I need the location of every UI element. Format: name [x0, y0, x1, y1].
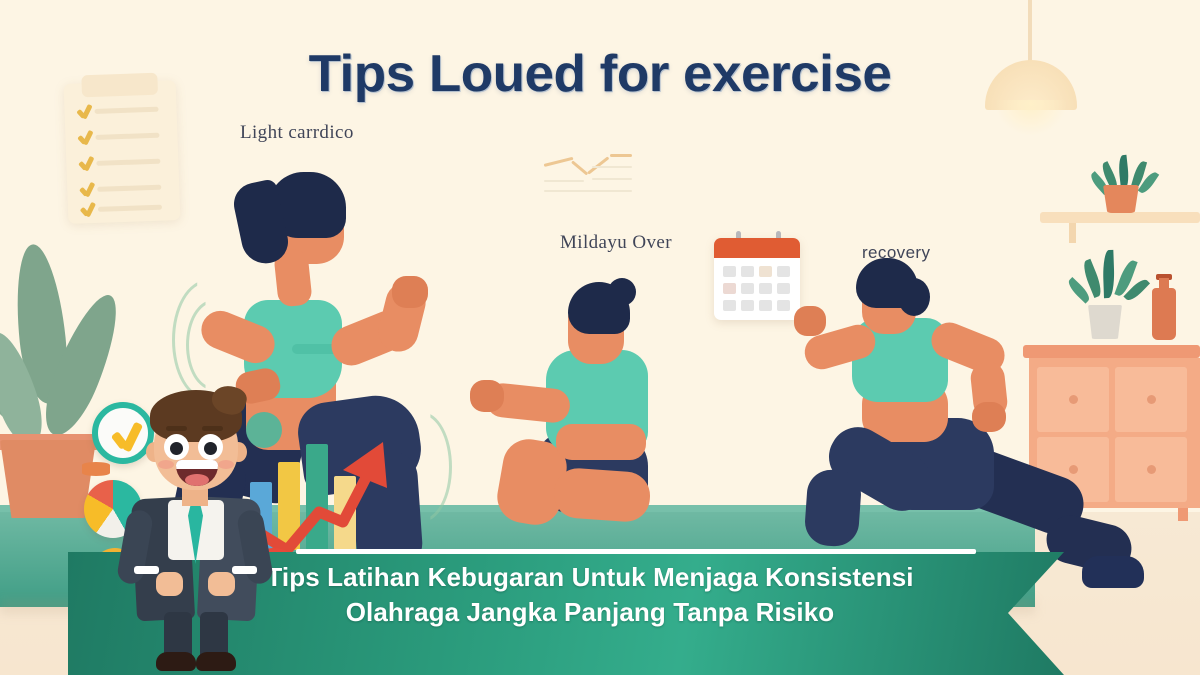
businessman-mascot [120, 390, 270, 675]
banner-line-2: Olahraga Jangka Panjang Tanpa Risiko [240, 595, 940, 630]
shelf-board [1040, 212, 1200, 223]
label-recovery: recovery [862, 243, 930, 263]
line-chart-icon [540, 138, 632, 196]
label-middle: Mildayu Over [560, 232, 672, 254]
lamp-glow [995, 100, 1067, 136]
banner-caption: Tips Latihan Kebugaran Untuk Menjaga Kon… [240, 560, 940, 630]
bottle-icon [1152, 288, 1176, 340]
shelf-brace [1069, 223, 1076, 243]
label-light-cardio: Light carrdico [240, 122, 354, 144]
poster-canvas: Tips Latihan Kebugaran Untuk Menjaga Kon… [0, 0, 1200, 675]
banner-top-rule [296, 549, 976, 554]
page-title: Tips Loued for exercise [0, 44, 1200, 104]
banner-line-1: Tips Latihan Kebugaran Untuk Menjaga Kon… [266, 562, 913, 592]
